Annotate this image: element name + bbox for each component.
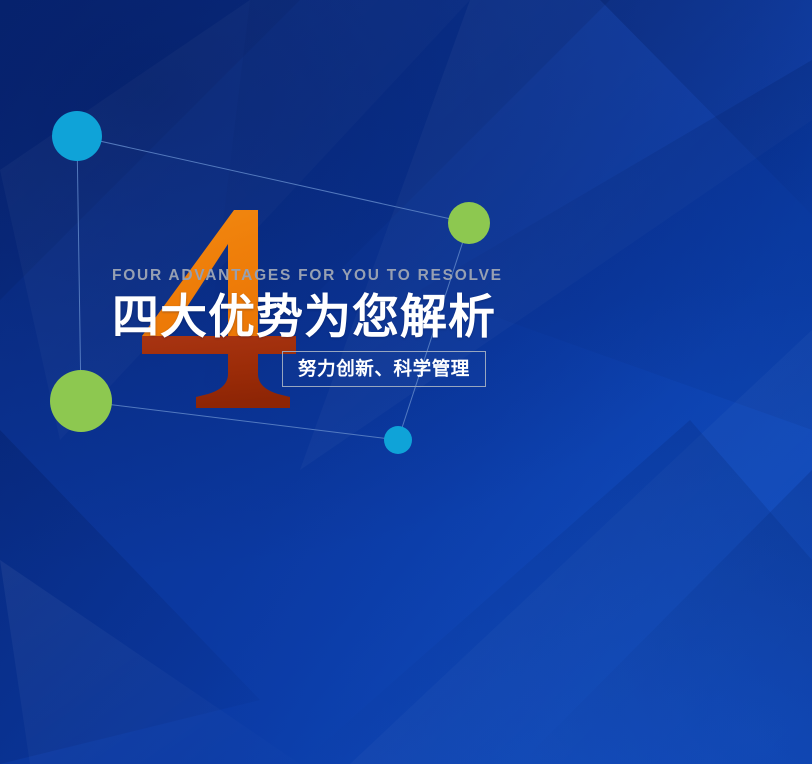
promo-banner: FOUR ADVANTAGES FOR YOU TO RESOLVE 四大优势为… bbox=[0, 0, 812, 764]
banner-headline: 四大优势为您解析 bbox=[112, 292, 712, 342]
dot-green-large bbox=[50, 370, 112, 432]
connector-cyan-large-to-green-large bbox=[77, 136, 81, 401]
banner-eyebrow-text: FOUR ADVANTAGES FOR YOU TO RESOLVE bbox=[112, 268, 712, 284]
dot-green-small bbox=[448, 202, 490, 244]
dot-cyan-large bbox=[52, 111, 102, 161]
banner-tagline-row: 努力创新、科学管理 bbox=[282, 351, 486, 387]
banner-copy: FOUR ADVANTAGES FOR YOU TO RESOLVE 四大优势为… bbox=[112, 268, 712, 341]
dot-cyan-small bbox=[384, 426, 412, 454]
banner-tagline-text: 努力创新、科学管理 bbox=[298, 360, 470, 379]
banner-tagline-box: 努力创新、科学管理 bbox=[282, 351, 486, 387]
numeral-four-lower bbox=[142, 336, 296, 408]
